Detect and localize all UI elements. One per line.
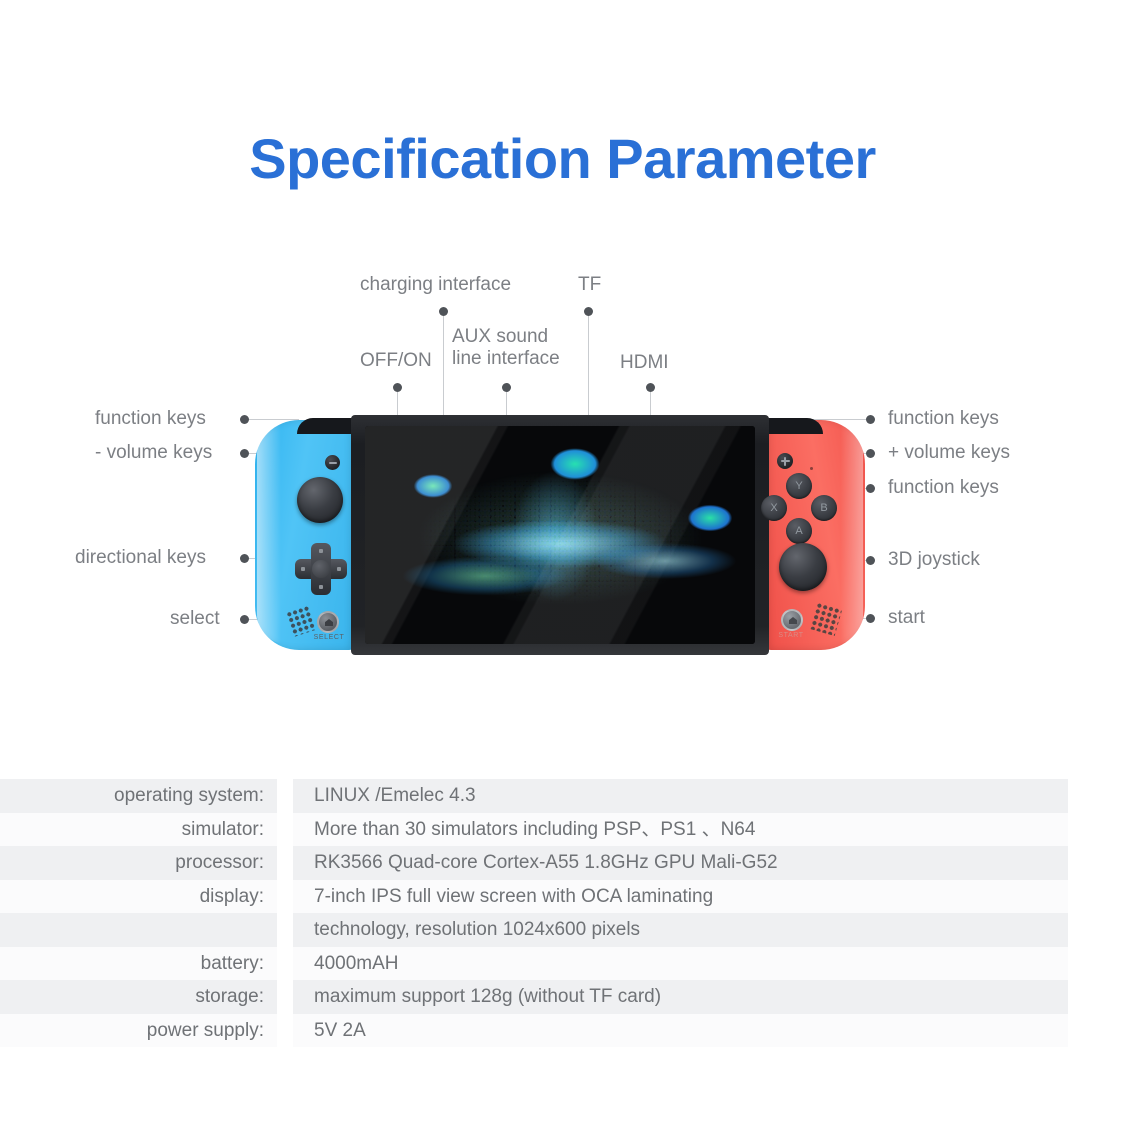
leader-dot-volume-plus bbox=[866, 449, 875, 458]
spec-value: 4000mAH bbox=[293, 947, 1068, 981]
dpad-up-arrow-icon bbox=[319, 549, 323, 553]
right-joystick[interactable] bbox=[779, 543, 827, 591]
leader-dot-function-keys-right-top bbox=[866, 415, 875, 424]
handheld-console-image: SELECT Y X B A START bbox=[255, 415, 865, 650]
directional-pad[interactable] bbox=[295, 543, 347, 595]
screen-bezel bbox=[365, 426, 755, 644]
table-row: operating system: LINUX /Emelec 4.3 bbox=[0, 779, 1125, 813]
spec-value: RK3566 Quad-core Cortex-A55 1.8GHz GPU M… bbox=[293, 846, 1068, 880]
status-led bbox=[810, 467, 813, 470]
leader-dot-charging-interface bbox=[439, 307, 448, 316]
dpad-hub bbox=[312, 560, 330, 578]
spec-key: battery: bbox=[0, 947, 277, 981]
spec-value: maximum support 128g (without TF card) bbox=[293, 980, 1068, 1014]
volume-up-button[interactable] bbox=[777, 453, 793, 469]
start-button[interactable] bbox=[781, 609, 803, 631]
leader-dot-off-on bbox=[393, 383, 402, 392]
button-a[interactable]: A bbox=[786, 518, 812, 544]
volume-down-button[interactable] bbox=[325, 455, 340, 470]
table-row: storage: maximum support 128g (without T… bbox=[0, 980, 1125, 1014]
left-joystick[interactable] bbox=[297, 477, 343, 523]
dpad-down-arrow-icon bbox=[319, 585, 323, 589]
dpad-right-arrow-icon bbox=[337, 567, 341, 571]
spec-key: power supply: bbox=[0, 1014, 277, 1048]
screen-housing bbox=[351, 415, 769, 655]
table-row: technology, resolution 1024x600 pixels bbox=[0, 913, 1125, 947]
callout-volume-plus: + volume keys bbox=[888, 442, 1010, 464]
spec-key: display: bbox=[0, 880, 277, 914]
callout-function-keys-right: function keys bbox=[888, 477, 999, 499]
leader-dot-aux bbox=[502, 383, 511, 392]
leader-line-charging-interface bbox=[443, 316, 444, 420]
callout-aux-line-1: AUX sound bbox=[452, 326, 548, 347]
leader-dot-hdmi bbox=[646, 383, 655, 392]
callout-charging-interface: charging interface bbox=[360, 274, 511, 296]
leader-dot-tf bbox=[584, 307, 593, 316]
callout-directional-keys: directional keys bbox=[75, 547, 206, 569]
spec-key: simulator: bbox=[0, 813, 277, 847]
spec-value: 7-inch IPS full view screen with OCA lam… bbox=[293, 880, 1068, 914]
leader-dot-start bbox=[866, 614, 875, 623]
table-row: processor: RK3566 Quad-core Cortex-A55 1… bbox=[0, 846, 1125, 880]
spec-value: More than 30 simulators including PSP、PS… bbox=[293, 813, 1068, 847]
callout-volume-minus: - volume keys bbox=[95, 442, 212, 464]
spec-value: technology, resolution 1024x600 pixels bbox=[293, 913, 1068, 947]
table-row: simulator: More than 30 simulators inclu… bbox=[0, 813, 1125, 847]
callout-start: start bbox=[888, 607, 925, 629]
leader-dot-directional-keys bbox=[240, 554, 249, 563]
callout-hdmi: HDMI bbox=[620, 352, 669, 374]
spec-value: LINUX /Emelec 4.3 bbox=[293, 779, 1068, 813]
spec-key: operating system: bbox=[0, 779, 277, 813]
product-diagram: charging interface TF OFF/ON AUX sound l… bbox=[0, 250, 1125, 730]
callout-off-on: OFF/ON bbox=[360, 350, 432, 372]
leader-dot-function-keys-right bbox=[866, 484, 875, 493]
spec-key: processor: bbox=[0, 846, 277, 880]
table-row: battery: 4000mAH bbox=[0, 947, 1125, 981]
page-title: Specification Parameter bbox=[0, 128, 1125, 190]
callout-aux-line-2: line interface bbox=[452, 348, 560, 369]
leader-line-tf bbox=[588, 316, 589, 420]
button-y[interactable]: Y bbox=[786, 473, 812, 499]
table-row: display: 7-inch IPS full view screen wit… bbox=[0, 880, 1125, 914]
leader-dot-volume-minus bbox=[240, 449, 249, 458]
callout-select: select bbox=[170, 608, 220, 630]
leader-dot-select bbox=[240, 615, 249, 624]
spec-value: 5V 2A bbox=[293, 1014, 1068, 1048]
table-row: power supply: 5V 2A bbox=[0, 1014, 1125, 1048]
screen-glare bbox=[365, 426, 755, 644]
spec-key bbox=[0, 913, 277, 947]
leader-dot-3d-joystick bbox=[866, 556, 875, 565]
specification-table: operating system: LINUX /Emelec 4.3 simu… bbox=[0, 779, 1125, 1047]
dpad-left-arrow-icon bbox=[301, 567, 305, 571]
select-button[interactable] bbox=[317, 611, 339, 633]
select-button-label: SELECT bbox=[305, 634, 353, 641]
spec-key: storage: bbox=[0, 980, 277, 1014]
callout-aux-sound-line-interface: AUX sound line interface bbox=[452, 326, 592, 371]
callout-function-keys-right-top: function keys bbox=[888, 408, 999, 430]
callout-3d-joystick: 3D joystick bbox=[888, 549, 980, 571]
button-x[interactable]: X bbox=[761, 495, 787, 521]
callout-function-keys-left: function keys bbox=[95, 408, 206, 430]
start-button-label: START bbox=[767, 632, 815, 639]
button-b[interactable]: B bbox=[811, 495, 837, 521]
leader-dot-function-keys-left bbox=[240, 415, 249, 424]
callout-tf: TF bbox=[578, 274, 601, 296]
